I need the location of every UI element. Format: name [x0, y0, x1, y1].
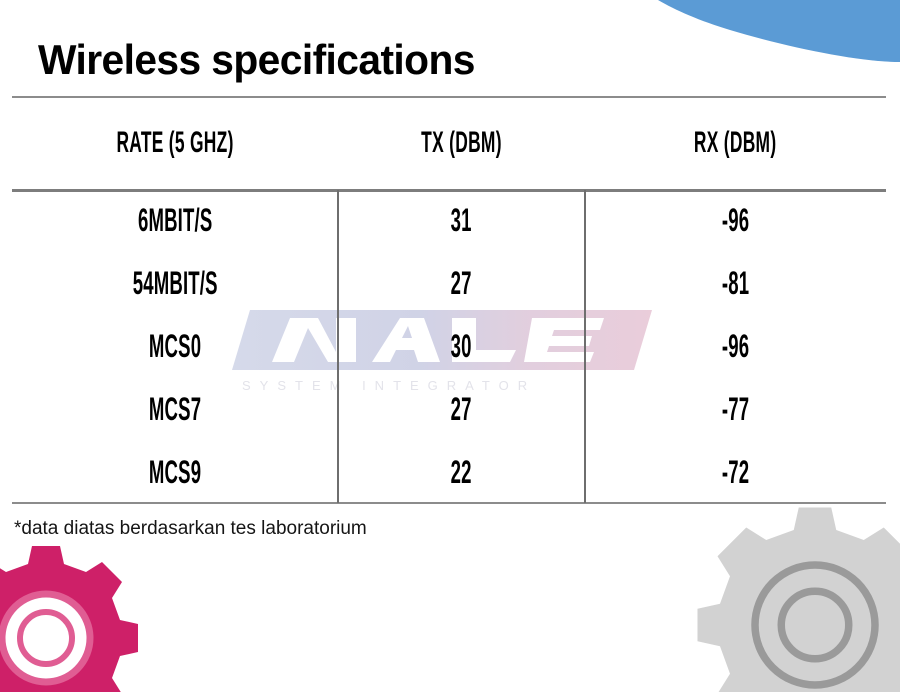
cell-rate: MCS9: [12, 441, 338, 504]
cell-rx-value: -72: [722, 454, 749, 491]
column-header-rx: RX (DBM): [585, 96, 886, 189]
cell-rate: MCS0: [12, 315, 338, 378]
wireless-specifications-table: RATE (5 GHZ) TX (DBM) RX (DBM) 6MBIT/S 3…: [12, 96, 886, 504]
table-row: MCS9 22 -72: [12, 441, 886, 504]
cell-rx: -96: [585, 189, 886, 252]
cell-rx: -72: [585, 441, 886, 504]
cell-rx-value: -81: [722, 265, 749, 302]
table-row: 6MBIT/S 31 -96: [12, 189, 886, 252]
footnote-text: *data diatas berdasarkan tes laboratoriu…: [14, 517, 367, 541]
cell-tx: 31: [338, 189, 585, 252]
cell-rate-value: MCS9: [149, 454, 201, 491]
cell-rate-value: MCS7: [149, 391, 201, 428]
column-header-rate: RATE (5 GHZ): [12, 96, 338, 189]
cell-tx: 27: [338, 378, 585, 441]
column-header-rx-label: RX (DBM): [694, 126, 777, 160]
cell-tx-value: 30: [451, 328, 472, 365]
cell-rx-value: -96: [722, 328, 749, 365]
pink-gear-decoration: [0, 538, 146, 692]
cell-tx: 22: [338, 441, 585, 504]
cell-rate: 54MBIT/S: [12, 252, 338, 315]
cell-tx-value: 22: [451, 454, 472, 491]
column-header-rate-label: RATE (5 GHZ): [116, 126, 233, 160]
cell-rx: -77: [585, 378, 886, 441]
table-header-row: RATE (5 GHZ) TX (DBM) RX (DBM): [12, 96, 886, 189]
table-row: MCS7 27 -77: [12, 378, 886, 441]
table-row: 54MBIT/S 27 -81: [12, 252, 886, 315]
cell-rx: -96: [585, 315, 886, 378]
column-header-tx-label: TX (DBM): [421, 126, 502, 160]
cell-tx: 30: [338, 315, 585, 378]
cell-tx-value: 31: [451, 202, 472, 239]
gray-gear-decoration: [690, 500, 900, 692]
cell-tx-value: 27: [451, 391, 472, 428]
cell-rx: -81: [585, 252, 886, 315]
cell-rate-value: 54MBIT/S: [133, 265, 218, 302]
cell-rate: MCS7: [12, 378, 338, 441]
cell-rate-value: 6MBIT/S: [138, 202, 212, 239]
cell-tx-value: 27: [451, 265, 472, 302]
page-title: Wireless specifications: [38, 36, 475, 84]
slide-canvas: Wireless specifications SYSTEM INTEGRATO…: [0, 0, 900, 692]
column-header-tx: TX (DBM): [338, 96, 585, 189]
cell-rate-value: MCS0: [149, 328, 201, 365]
cell-tx: 27: [338, 252, 585, 315]
table-row: MCS0 30 -96: [12, 315, 886, 378]
cell-rx-value: -77: [722, 391, 749, 428]
cell-rx-value: -96: [722, 202, 749, 239]
cell-rate: 6MBIT/S: [12, 189, 338, 252]
blue-wave-decoration: [560, 0, 900, 90]
